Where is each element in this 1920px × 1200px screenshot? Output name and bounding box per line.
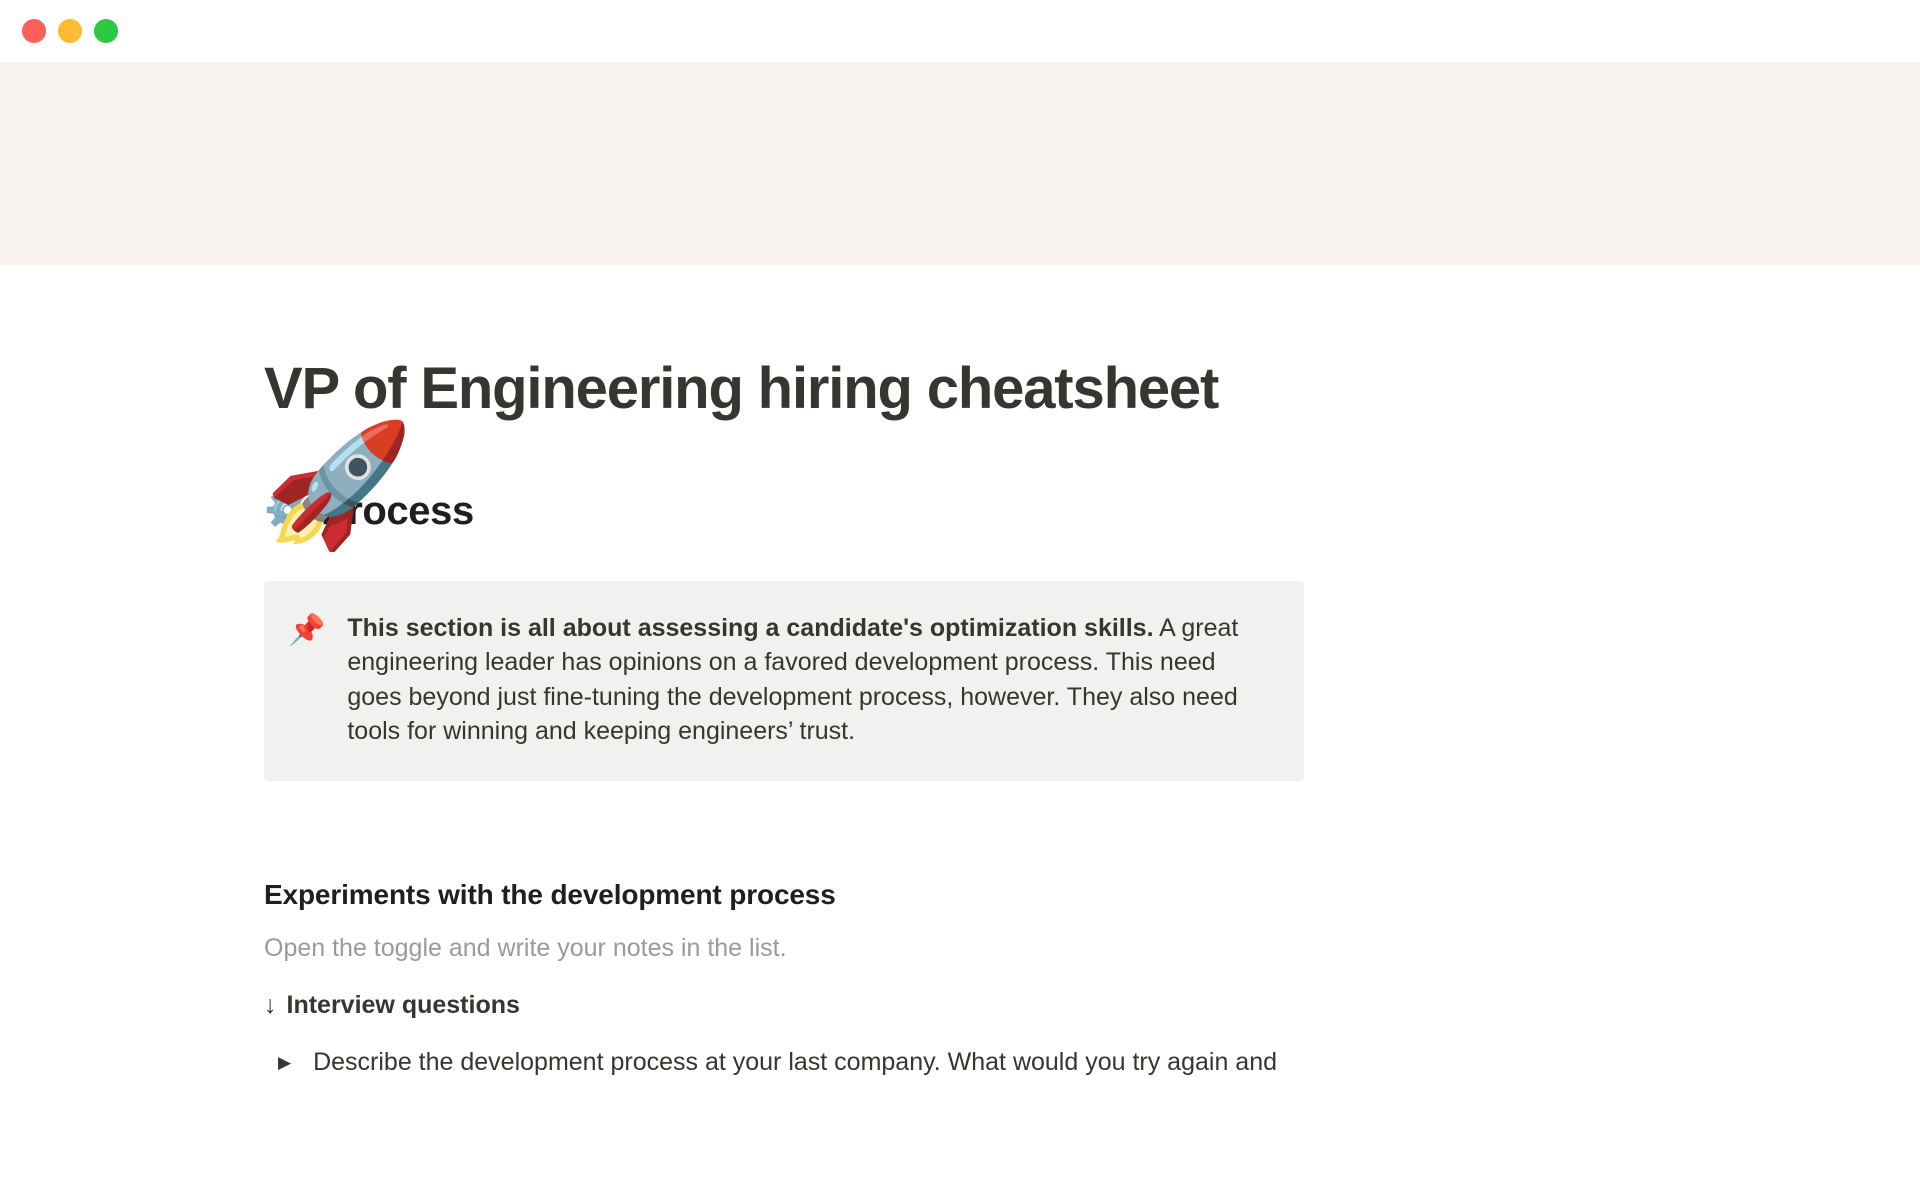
callout-text: This section is all about assessing a ca… <box>347 611 1270 749</box>
rocket-icon[interactable]: 🚀 <box>264 425 413 545</box>
close-window-button[interactable] <box>22 19 46 43</box>
toggle-list-item-text: Describe the development process at your… <box>313 1045 1277 1080</box>
subsection-heading[interactable]: Experiments with the development process <box>264 877 1304 913</box>
callout-block[interactable]: 📌 This section is all about assessing a … <box>264 581 1304 781</box>
page-cover[interactable] <box>0 62 1920 265</box>
maximize-window-button[interactable] <box>94 19 118 43</box>
toggle-group-label: Interview questions <box>287 988 520 1023</box>
page-title[interactable]: VP of Engineering hiring cheatsheet <box>264 265 1304 421</box>
page-body: 🚀 VP of Engineering hiring cheatsheet ⚙️… <box>0 265 1920 1080</box>
triangle-right-icon[interactable]: ▶ <box>278 1054 291 1071</box>
callout-bold-lead: This section is all about assessing a ca… <box>347 614 1153 642</box>
section-heading-process: ⚙️ Process <box>264 487 1304 535</box>
app-window: 🚀 VP of Engineering hiring cheatsheet ⚙️… <box>0 0 1920 1200</box>
traffic-light-group <box>22 19 118 43</box>
arrow-down-icon: ↓ <box>264 988 277 1023</box>
toggle-list-item[interactable]: ▶ Describe the development process at yo… <box>264 1045 1304 1080</box>
toggle-group-header[interactable]: ↓ Interview questions <box>264 988 1304 1023</box>
pushpin-icon: 📌 <box>288 611 325 652</box>
subsection-hint-text: Open the toggle and write your notes in … <box>264 931 1304 966</box>
window-titlebar <box>0 0 1920 62</box>
minimize-window-button[interactable] <box>58 19 82 43</box>
page-content: VP of Engineering hiring cheatsheet ⚙️ P… <box>264 265 1304 1080</box>
